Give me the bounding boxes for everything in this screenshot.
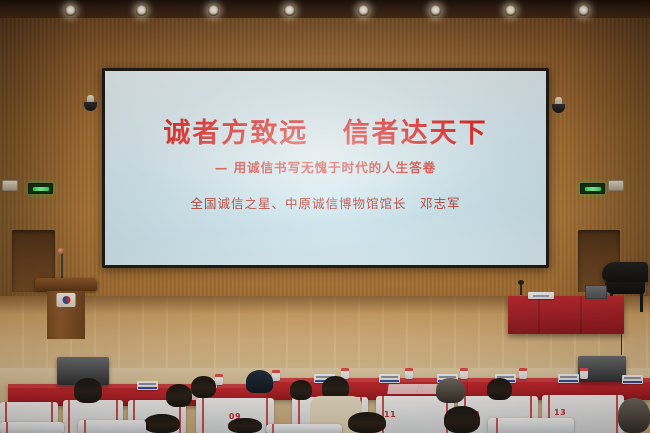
grand-piano [602,262,648,294]
chair-seam [6,422,8,433]
wall-speaker-right [608,180,624,191]
chair-number: 13 [542,408,624,417]
attendee-head [487,378,512,400]
slide-content: 诚者方致远 信者达天下 — 用诚信书写无愧于时代的人生答卷 全国诚信之星、中原诚… [105,71,546,212]
attendee-head [436,378,465,403]
delegate-name-card [137,381,158,390]
podium-microphone-stand [61,252,63,278]
podium-microphone-head [58,248,64,254]
water-cup [519,368,527,379]
projection-screen: 诚者方致远 信者达天下 — 用诚信书写无愧于时代的人生答卷 全国诚信之星、中原诚… [102,68,549,268]
slide-surface: 诚者方致远 信者达天下 — 用诚信书写无愧于时代的人生答卷 全国诚信之星、中原诚… [105,71,546,265]
water-cup [460,368,468,379]
water-cup [215,374,223,385]
slide-title: 诚者方致远 信者达天下 [105,119,546,149]
laptop-screen [585,285,607,299]
delegate-name-card [558,374,579,383]
wall-speaker-left [2,180,18,191]
presenter-laptop[interactable] [585,285,607,299]
dome-camera-right [552,97,565,113]
delegate-name-card [379,374,400,383]
piano-lid [602,262,648,282]
ceiling-spotlight [208,5,219,16]
attendee-head [246,370,273,393]
attendee-head [191,376,216,398]
attendee-head [74,378,102,403]
attendee-head-foreground [444,406,480,433]
presenter-table [508,296,624,334]
attendee-head [166,384,192,407]
ceiling-spotlight [505,5,516,16]
foreground-chair[interactable] [78,420,146,433]
delegate-name-card [622,375,643,384]
ceiling-spotlight [578,5,589,16]
exit-sign-right [580,183,605,194]
ceiling-spotlight [136,5,147,16]
chair-seam [84,420,86,433]
foreground-chair[interactable] [488,418,574,433]
attendee-head-foreground [348,412,386,433]
ceiling-spotlight [65,5,76,16]
attendee-head-foreground [618,398,650,433]
podium-emblem-icon [57,293,76,307]
camera-dome [552,104,565,113]
dome-camera-left [84,95,97,111]
water-cup [580,368,588,379]
attendee-head-foreground [228,418,262,433]
exit-sign-left [28,183,53,194]
chair-seam [496,418,498,433]
foreground-chair[interactable] [0,422,64,433]
camera-mount [555,97,562,104]
slide-byline: 全国诚信之星、中原诚信博物馆馆长 邓志军 [105,193,546,212]
ceiling-spotlight [358,5,369,16]
attendee-head-foreground [144,414,180,433]
water-cup [405,368,413,379]
table-document [387,384,418,394]
podium [35,278,97,339]
ceiling [0,0,650,18]
presenter-nameplate [528,292,554,299]
piano-leg [640,294,643,312]
ceiling-spotlight [430,5,441,16]
camera-mount [87,95,94,102]
chair-number: 11 [376,410,454,419]
table-drape-fold [538,296,540,334]
table-microphone [520,283,522,295]
piano-body [605,282,645,294]
attendee-head [290,380,312,400]
chair-seam [272,424,274,433]
podium-top [35,278,97,291]
foreground-chair[interactable] [266,424,342,433]
table-drape-fold [580,296,582,334]
camera-dome [84,102,97,111]
auditorium-photo: 诚者方致远 信者达天下 — 用诚信书写无愧于时代的人生答卷 全国诚信之星、中原诚… [0,0,650,433]
ceiling-spotlight [284,5,295,16]
chair-seam [68,400,70,433]
water-cup [272,370,280,381]
slide-subtitle: — 用诚信书写无愧于时代的人生答卷 [105,157,546,176]
